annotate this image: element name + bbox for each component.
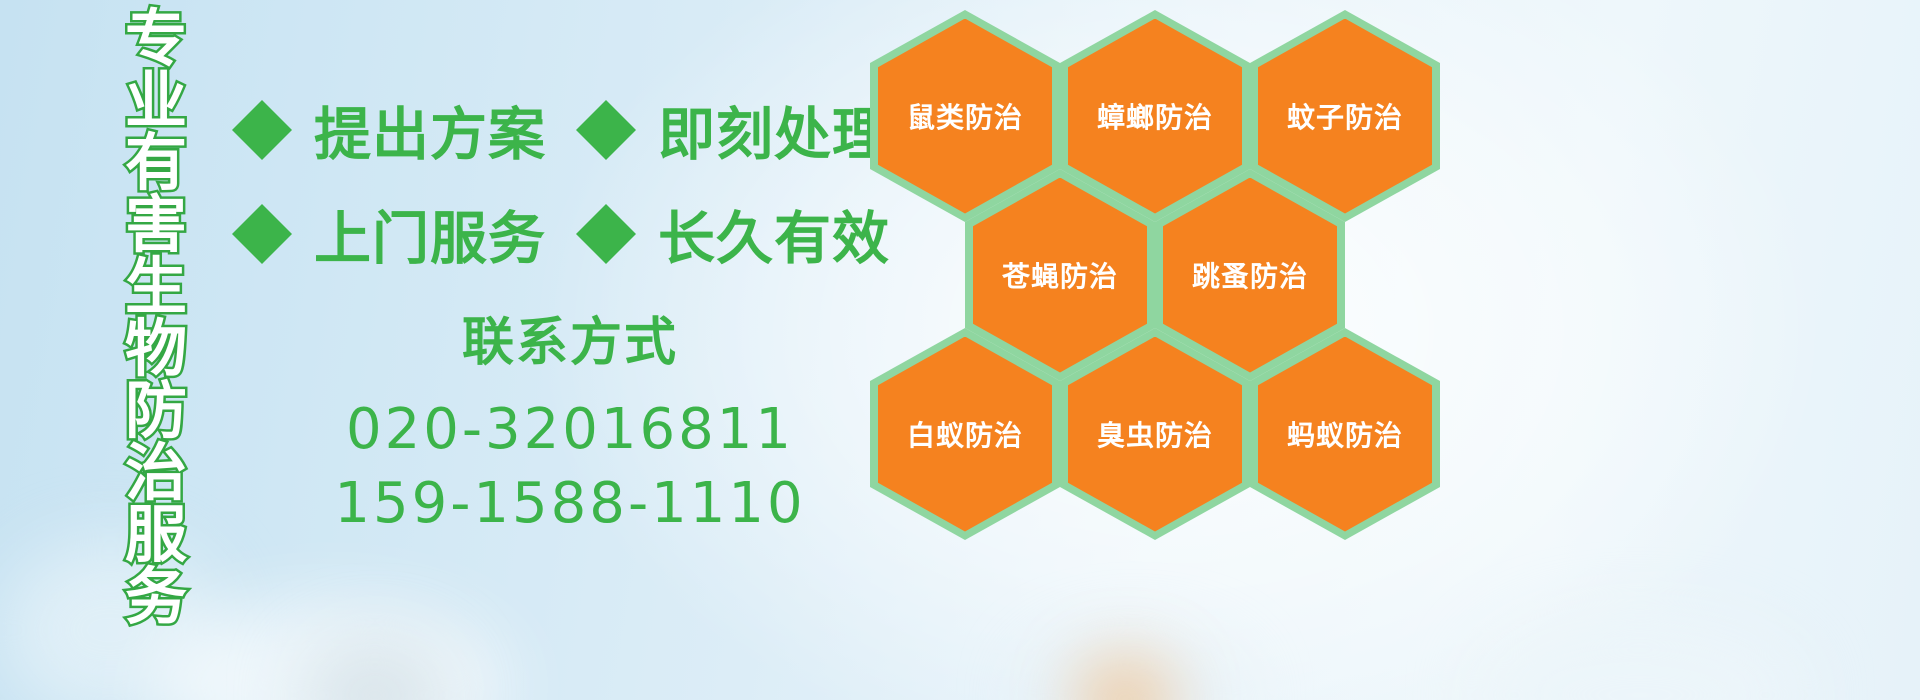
feature-row: 上门服务长久有效 xyxy=(232,182,872,286)
service-hexagon-fill: 白蚁防治 xyxy=(878,337,1052,532)
service-hexagon-label: 鼠类防治 xyxy=(907,96,1023,136)
feature-item: 即刻处理 xyxy=(576,89,890,171)
vertical-headline-char: 防 xyxy=(125,380,187,442)
promo-banner: 专业有害生物防治服务 提出方案即刻处理上门服务长久有效 联系方式 020-320… xyxy=(0,0,1920,700)
vertical-headline-char: 生 xyxy=(125,256,187,318)
contact-phone-number[interactable]: 020-32016811 xyxy=(300,393,840,467)
vertical-headline-char: 服 xyxy=(125,504,187,566)
service-hexagon-fill: 苍蝇防治 xyxy=(973,178,1147,373)
feature-item: 上门服务 xyxy=(232,193,546,275)
vertical-headline-char: 专 xyxy=(125,8,187,70)
service-hexagon-label: 白蚁防治 xyxy=(907,414,1023,454)
vertical-headline-char: 害 xyxy=(125,194,187,256)
contact-heading: 联系方式 xyxy=(300,300,840,375)
vertical-headline-char: 治 xyxy=(125,442,187,504)
feature-list: 提出方案即刻处理上门服务长久有效 xyxy=(232,78,872,286)
service-hexagon-label: 蟑螂防治 xyxy=(1097,96,1213,136)
background-blur-shape xyxy=(1480,620,1800,700)
feature-label: 上门服务 xyxy=(314,193,546,275)
service-hexagon-label: 蚊子防治 xyxy=(1287,96,1403,136)
service-hexagon-fill: 蟑螂防治 xyxy=(1068,19,1242,214)
diamond-bullet-icon xyxy=(576,70,636,130)
service-hexagon-label: 蚂蚁防治 xyxy=(1287,414,1403,454)
feature-label: 提出方案 xyxy=(314,89,546,171)
service-hexagon-label: 苍蝇防治 xyxy=(1002,255,1118,295)
vertical-headline-char: 业 xyxy=(125,70,187,132)
service-hexagon-label: 臭虫防治 xyxy=(1097,414,1213,454)
diamond-bullet-icon xyxy=(576,174,636,234)
feature-item: 长久有效 xyxy=(576,193,890,275)
service-hexagon-label: 跳蚤防治 xyxy=(1192,255,1308,295)
contact-block: 联系方式 020-32016811159-1588-1110 xyxy=(300,300,840,541)
contact-phone-list: 020-32016811159-1588-1110 xyxy=(300,393,840,541)
service-hexagon-fill: 蚊子防治 xyxy=(1258,19,1432,214)
service-hexagon-fill: 蚂蚁防治 xyxy=(1258,337,1432,532)
service-hexagon-fill: 臭虫防治 xyxy=(1068,337,1242,532)
service-hexagon-fill: 鼠类防治 xyxy=(878,19,1052,214)
diamond-bullet-icon xyxy=(232,70,292,130)
feature-label: 长久有效 xyxy=(658,193,890,275)
background-blur-shape xyxy=(1080,660,1170,700)
vertical-headline-char: 物 xyxy=(125,318,187,380)
vertical-headline-char: 务 xyxy=(125,566,187,628)
feature-item: 提出方案 xyxy=(232,89,546,171)
vertical-headline-char: 有 xyxy=(125,132,187,194)
feature-label: 即刻处理 xyxy=(658,89,890,171)
diamond-bullet-icon xyxy=(232,174,292,234)
service-hexagon-grid: 鼠类防治蟑螂防治蚊子防治苍蝇防治跳蚤防治白蚁防治臭虫防治蚂蚁防治 xyxy=(862,0,1462,560)
background-blur-shape xyxy=(1030,640,1240,700)
feature-row: 提出方案即刻处理 xyxy=(232,78,872,182)
vertical-headline: 专业有害生物防治服务 xyxy=(104,8,208,568)
service-hexagon-fill: 跳蚤防治 xyxy=(1163,178,1337,373)
background-blur-shape xyxy=(300,640,450,700)
background-blur-shape xyxy=(150,600,510,700)
contact-phone-number[interactable]: 159-1588-1110 xyxy=(300,467,840,541)
